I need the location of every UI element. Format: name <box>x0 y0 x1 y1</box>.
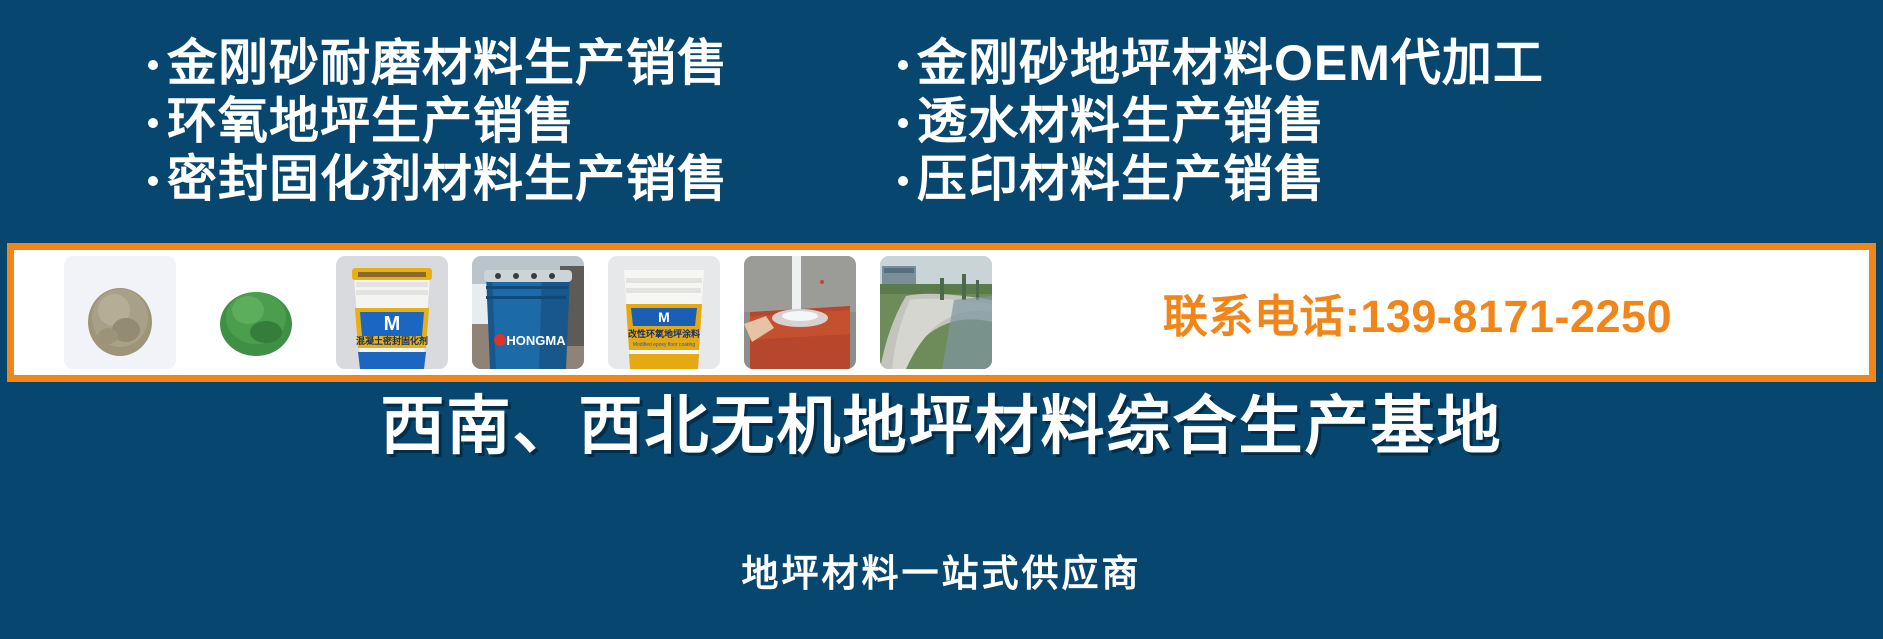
feature-item: 压印材料生产销售 <box>898 150 1883 208</box>
feature-column-left: 金刚砂耐磨材料生产销售 环氧地坪生产销售 密封固化剂材料生产销售 <box>0 34 880 208</box>
bullet-dot-icon <box>148 176 158 186</box>
feature-lists: 金刚砂耐磨材料生产销售 环氧地坪生产销售 密封固化剂材料生产销售 金刚砂地坪材料… <box>0 34 1883 228</box>
bullet-dot-icon <box>148 118 158 128</box>
feature-label: 透水材料生产销售 <box>917 92 1325 150</box>
feature-item: 金刚砂耐磨材料生产销售 <box>148 34 880 92</box>
feature-item: 环氧地坪生产销售 <box>148 92 880 150</box>
contact-phone-label: 联系电话:139-8171-2250 <box>992 280 1869 345</box>
svg-text:HONGMA: HONGMA <box>506 333 566 348</box>
white-bucket-epoxy-photo: M 改性环氧地坪涂料 Modified epoxy floor coating <box>608 256 720 369</box>
bullet-dot-icon <box>898 118 908 128</box>
bullet-dot-icon <box>148 60 158 70</box>
page-subtitle: 地坪材料一站式供应商 <box>0 552 1883 596</box>
feature-item: 密封固化剂材料生产销售 <box>148 150 880 208</box>
feature-item: 透水材料生产销售 <box>898 92 1883 150</box>
stamped-concrete-walkway-photo <box>880 256 992 369</box>
white-bucket-sealer-photo: M 混凝土密封固化剂 <box>336 256 448 369</box>
product-strip: M 混凝土密封固化剂 <box>7 243 1876 382</box>
svg-text:M: M <box>384 313 401 335</box>
feature-item: 金刚砂地坪材料OEM代加工 <box>898 34 1883 92</box>
svg-text:Modified epoxy floor coating: Modified epoxy floor coating <box>633 342 695 348</box>
blue-drum-hongma-photo: HONGMA <box>472 256 584 369</box>
feature-label: 环氧地坪生产销售 <box>167 92 575 150</box>
green-powder-photo <box>200 256 312 369</box>
feature-label: 金刚砂耐磨材料生产销售 <box>167 34 728 92</box>
feature-label: 压印材料生产销售 <box>917 150 1325 208</box>
page-title: 西南、西北无机地坪材料综合生产基地 <box>0 388 1883 464</box>
bullet-dot-icon <box>898 60 908 70</box>
feature-label: 金刚砂地坪材料OEM代加工 <box>917 34 1544 92</box>
gray-abrasive-powder-photo <box>64 256 176 369</box>
svg-text:混凝土密封固化剂: 混凝土密封固化剂 <box>356 335 428 346</box>
svg-text:改性环氧地坪涂料: 改性环氧地坪涂料 <box>628 328 700 339</box>
feature-label: 密封固化剂材料生产销售 <box>167 150 728 208</box>
svg-text:M: M <box>658 309 670 325</box>
feature-column-right: 金刚砂地坪材料OEM代加工 透水材料生产销售 压印材料生产销售 <box>880 34 1883 208</box>
bullet-dot-icon <box>898 176 908 186</box>
permeable-paving-water-test-photo <box>744 256 856 369</box>
promotional-banner: 金刚砂耐磨材料生产销售 环氧地坪生产销售 密封固化剂材料生产销售 金刚砂地坪材料… <box>0 0 1883 639</box>
product-thumbnail-list: M 混凝土密封固化剂 <box>14 256 992 369</box>
